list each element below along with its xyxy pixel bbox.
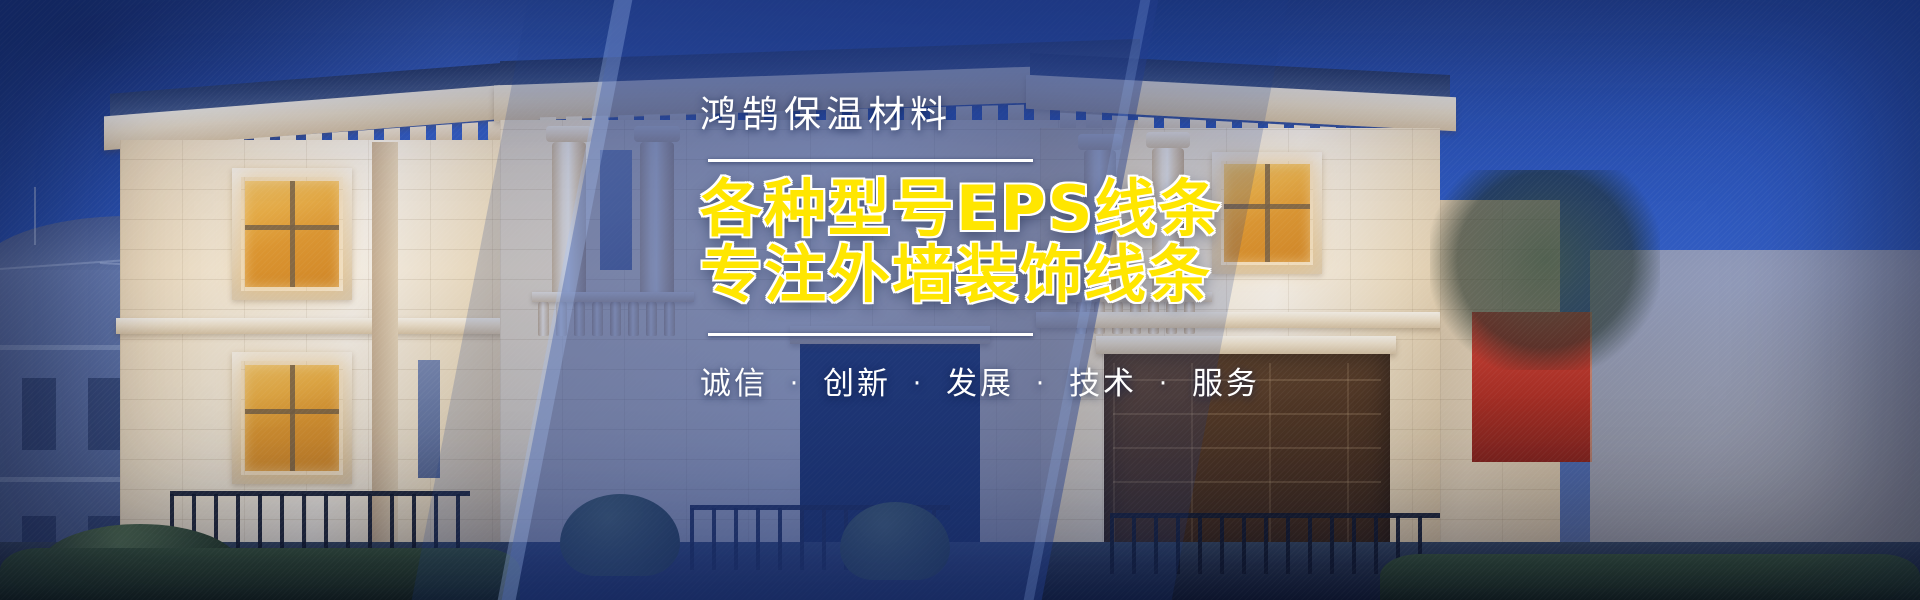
hedge-row-left bbox=[0, 548, 520, 600]
villa-string-course-left bbox=[116, 318, 526, 334]
balustrade bbox=[538, 300, 688, 336]
hero-banner: 鸿鹄保温材料 各种型号EPS线条 专注外墙装饰线条 诚信 · 创新 · 发展 ·… bbox=[0, 0, 1920, 600]
tagline: 诚信 · 创新 · 发展 · 技术 · 服务 bbox=[700, 358, 1260, 403]
divider-rule-top bbox=[708, 159, 1033, 162]
iron-fence-rail bbox=[1110, 513, 1440, 518]
tagline-separator: · bbox=[1150, 369, 1179, 399]
column bbox=[640, 142, 674, 296]
window-lit bbox=[245, 181, 339, 287]
tagline-separator: · bbox=[904, 369, 933, 399]
balcony-rail bbox=[532, 292, 694, 302]
tree-foliage bbox=[1430, 170, 1660, 370]
tagline-item-1: 创新 bbox=[823, 366, 891, 402]
window-narrow bbox=[418, 360, 440, 478]
column-capital bbox=[546, 126, 592, 142]
hedge-row-right bbox=[1380, 554, 1920, 600]
headline-line-1: 各种型号EPS线条 bbox=[700, 172, 1222, 245]
banner-text-block: 鸿鹄保温材料 各种型号EPS线条 专注外墙装饰线条 诚信 · 创新 · 发展 ·… bbox=[700, 96, 1260, 403]
window-recess bbox=[600, 150, 632, 270]
window-lit bbox=[245, 365, 339, 471]
column-capital bbox=[634, 126, 680, 142]
divider-rule-bottom bbox=[708, 333, 1033, 336]
iron-fence-rail bbox=[170, 491, 470, 496]
headline: 各种型号EPS线条 专注外墙装饰线条 bbox=[700, 176, 1260, 307]
tagline-item-3: 技术 bbox=[1069, 366, 1137, 402]
tagline-separator: · bbox=[781, 369, 810, 399]
brand-name: 鸿鹄保温材料 bbox=[700, 96, 1260, 133]
column bbox=[552, 142, 586, 296]
tagline-separator: · bbox=[1027, 369, 1056, 399]
tagline-item-0: 诚信 bbox=[700, 366, 768, 402]
headline-line-2: 专注外墙装饰线条 bbox=[700, 242, 1260, 308]
tagline-item-4: 服务 bbox=[1192, 366, 1260, 402]
tagline-item-2: 发展 bbox=[946, 366, 1014, 402]
